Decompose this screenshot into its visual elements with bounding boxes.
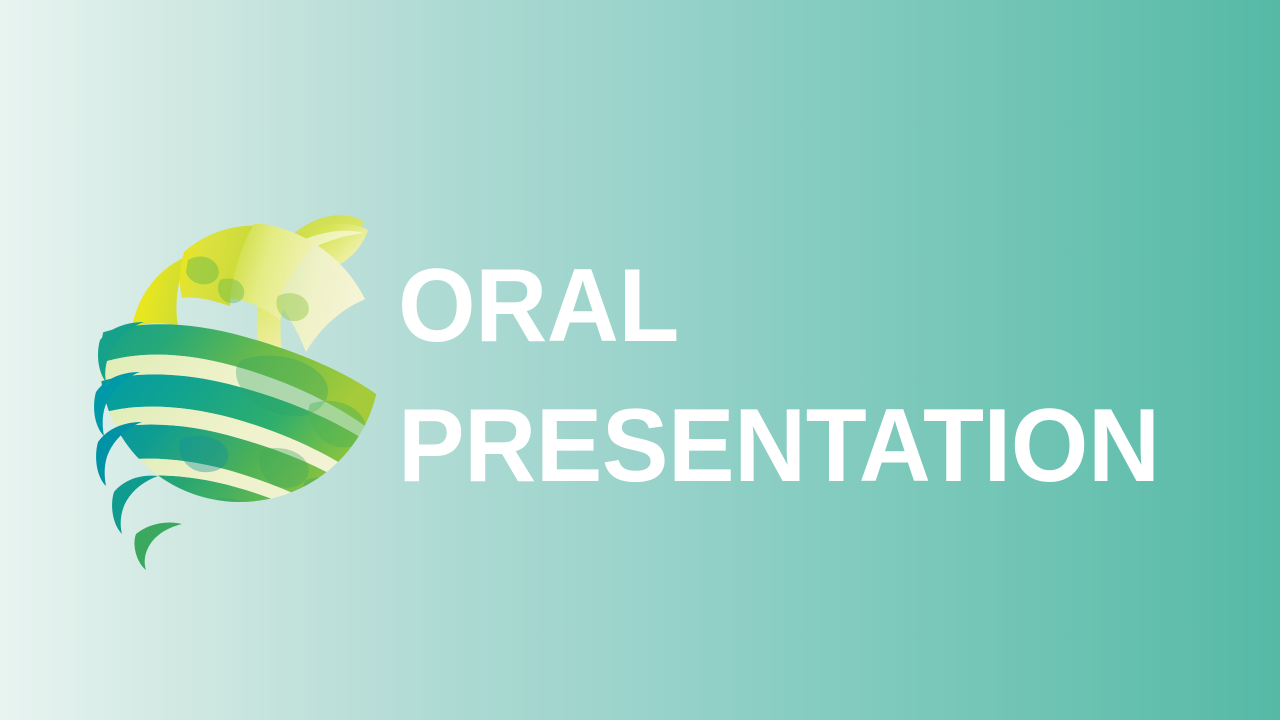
- band-1-top: [132, 256, 188, 328]
- globe-leaf-logo: [92, 200, 388, 526]
- title-slide: ORAL PRESENTATION: [0, 0, 1280, 720]
- title-line-2: PRESENTATION: [398, 376, 1166, 516]
- slide-title: ORAL PRESENTATION: [398, 236, 1198, 516]
- title-line-1: ORAL: [398, 236, 1166, 376]
- globe-leaf-icon: [92, 200, 388, 526]
